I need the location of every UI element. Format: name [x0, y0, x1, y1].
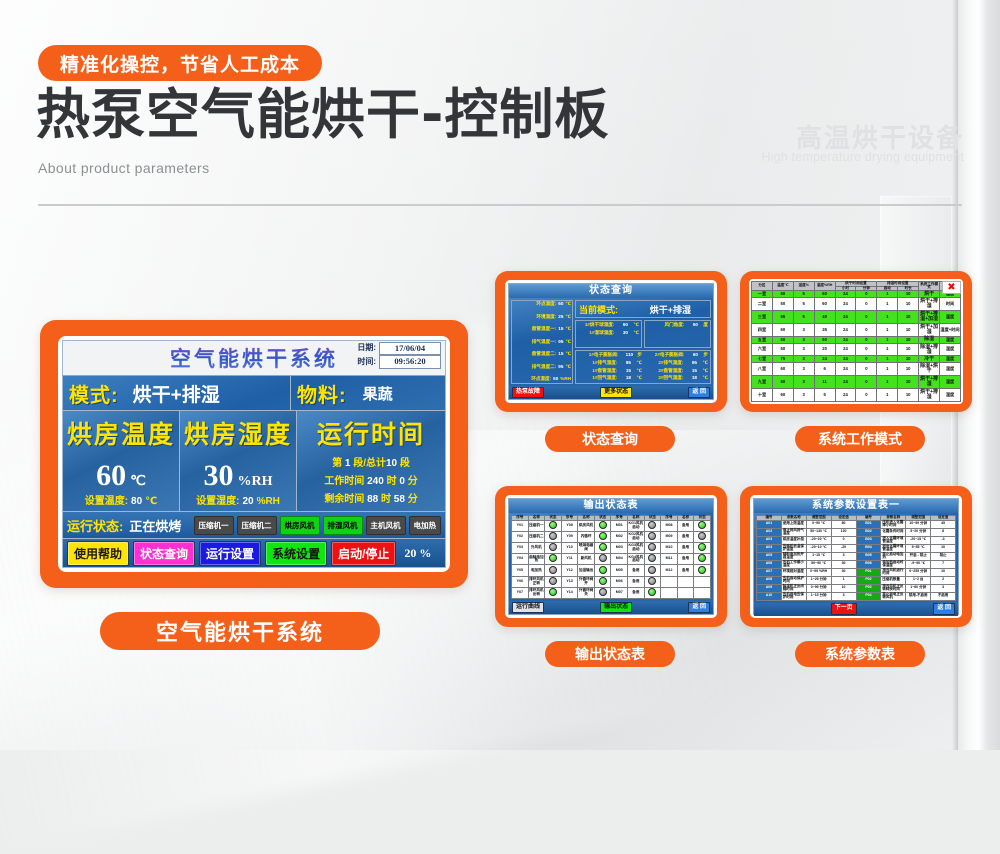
- param-name-right: 压缩机数量: [881, 576, 906, 584]
- output-name: 烘房风机: [578, 520, 595, 531]
- humidity-gauge[interactable]: 烘房湿度 30%RH 设置湿度:20%RH: [180, 411, 297, 511]
- footer-button-1[interactable]: 下一页: [831, 603, 857, 614]
- mode-end-condition: 湿度: [940, 389, 961, 402]
- mode-cell-6: 0: [856, 376, 877, 389]
- output-state: [545, 520, 562, 531]
- param-name-left: 压机启电压保护时间: [781, 592, 806, 600]
- mode-name: 烘干+加湿: [919, 323, 940, 336]
- table-row: A08压机启动保护时间1~25 分钟1P02压缩机数量1~2 台2: [757, 576, 956, 584]
- output-code: Y05: [512, 565, 529, 576]
- mode-cell-1: 九室: [752, 376, 773, 389]
- footer-button-2[interactable]: 更多状态: [600, 387, 632, 398]
- mode-cell-8: 10: [898, 389, 919, 402]
- humidity-setpoint[interactable]: 设置湿度:20%RH: [180, 492, 296, 507]
- indicator-chip-3: 烘房风机: [280, 516, 320, 535]
- output-code: M05: [611, 565, 628, 576]
- param-name-left: 压机工作最小温度: [781, 560, 806, 568]
- readout-value: 60: [687, 323, 703, 328]
- output-code: Y09: [561, 531, 578, 542]
- mode-end-condition: 湿度: [940, 336, 961, 343]
- readout-value: 110: [621, 353, 637, 358]
- param-range-left: 50~130 ℃: [806, 528, 831, 536]
- segment-mid: 段/总计: [353, 458, 386, 469]
- param-name-left: 除湿机正反间隔时间: [781, 584, 806, 592]
- footer-button-1[interactable]: 热泵故障: [512, 387, 544, 398]
- output-state: [644, 542, 661, 553]
- sensor-row-3: 盘管温度一:15℃: [513, 327, 571, 332]
- readout-unit: ℃: [702, 361, 708, 366]
- mode-cell-4: 24: [814, 356, 835, 363]
- output-state: [594, 576, 611, 587]
- header-divider: [38, 204, 962, 206]
- output-name: [677, 576, 694, 587]
- mode-cell-8: 10: [898, 311, 919, 324]
- temperature-setpoint[interactable]: 设置温度:80℃: [63, 492, 179, 507]
- mode-cell-7: 1: [877, 298, 898, 311]
- mode-cell-7: 1: [877, 363, 898, 376]
- readout-label: 2#回气温度:: [644, 376, 686, 381]
- temperature-unit: ℃: [130, 474, 146, 489]
- param-value-left: 1: [831, 576, 856, 584]
- readout-label: 1#回气温度:: [578, 376, 620, 381]
- param-name-left: 停止排风排气温度: [781, 528, 806, 536]
- work-minutes: 0: [399, 476, 405, 487]
- param-value-left: 3: [831, 592, 856, 600]
- readout-unit: %RH: [560, 377, 571, 382]
- output-name: 排环风机正转: [528, 576, 545, 587]
- status-dot-off: [549, 566, 557, 574]
- close-icon[interactable]: ✖: [942, 281, 961, 294]
- readout-label: 环境温度:: [536, 315, 556, 320]
- mode-cell-8: 10: [898, 336, 919, 343]
- table-row: 五室60360240110除湿湿度: [752, 336, 961, 343]
- system-param-table: 编号参数名称调整范围设定值编号参数名称调整范围设定值 A01使用上限温度0~90…: [756, 515, 956, 601]
- mode-cell-3: 5: [793, 291, 814, 298]
- param-range-left: 1~15 分钟: [806, 592, 831, 600]
- output-state: [644, 587, 661, 598]
- mode-cell-4: 60: [814, 291, 835, 298]
- mode-cell-7: 1: [877, 376, 898, 389]
- output-name: 压缩机二: [528, 531, 545, 542]
- status-dot-on: [599, 532, 607, 540]
- output-name: 备用: [677, 520, 694, 531]
- output-name: 压缩机一: [528, 520, 545, 531]
- output-status-footer: 运行曲线输出状态返 回: [509, 601, 713, 614]
- left-minutes: 58: [394, 494, 405, 505]
- output-name: 备用: [628, 576, 645, 587]
- hmi-datetime: 日期: 17/06/04 时间: 09:56:20: [357, 342, 441, 369]
- param-name-left: 烘房温度补偿: [781, 536, 806, 544]
- system-param-screen: 系统参数设置表一 编号参数名称调整范围设定值编号参数名称调整范围设定值 A01使…: [753, 498, 959, 615]
- mode-cell-5: 24: [835, 389, 856, 402]
- table-row: Y04曲轴电加热Y11新风机M04KG4风机启动M11备用: [512, 554, 711, 565]
- hmi-button-bar: 使用帮助状态查询运行设置系统设置启动/停止 20 %: [63, 539, 445, 567]
- output-code: Y13: [561, 576, 578, 587]
- param-value-left: 80: [831, 520, 856, 528]
- circuit1-row-1: 1#电子膨胀阀:110步: [578, 353, 642, 358]
- status-dot-on: [698, 521, 706, 529]
- param-range-left: -20~10 ℃: [806, 544, 831, 552]
- status-dot-on: [648, 588, 656, 596]
- mode-cell-2: 50: [772, 298, 793, 311]
- table-row: Y06排环风机正转Y13外循环阀开M06备用: [512, 576, 711, 587]
- mode-cell-1: 一室: [752, 291, 773, 298]
- table-row: 十室6035240110烘干+排湿湿度: [752, 389, 961, 402]
- readout-value: 15: [620, 369, 636, 374]
- status-query-bezel: 状态查询 环点温度:60℃环境温度:25℃盘管温度一:15℃排气温度一:95℃盘…: [505, 280, 717, 403]
- param-code-left: A06: [757, 560, 782, 568]
- readout-label: 排气温度二:: [532, 365, 557, 370]
- circuit2-row-1: 2#电子膨胀阀:60步: [644, 353, 708, 358]
- output-code: Y02: [512, 531, 529, 542]
- table-row: A03烘房温度补偿-20~20 ℃0B03进入化霜环境管温度-20~15 ℃-3: [757, 536, 956, 544]
- status-dot-off: [698, 532, 706, 540]
- hmi-gauges-row: 烘房温度 60℃ 设置温度:80℃ 烘房湿度 30%RH 设置湿度:20%RH: [63, 411, 445, 512]
- readout-label: 2#盘管温度:: [644, 369, 686, 374]
- mode-header-1: 分区: [752, 282, 773, 291]
- temperature-heading: 烘房温度: [67, 415, 175, 451]
- output-code: Y08: [561, 520, 578, 531]
- status-dot-off: [648, 554, 656, 562]
- output-state: [545, 554, 562, 565]
- output-code: Y14: [561, 587, 578, 598]
- param-value-left: 30: [831, 568, 856, 576]
- hmi-button-4[interactable]: 系统设置: [265, 541, 327, 566]
- work-hours: 240: [367, 476, 384, 487]
- readout-label: 风门角度:: [647, 323, 687, 328]
- param-code-left: A02: [757, 528, 782, 536]
- temperature-set-unit: ℃: [145, 496, 157, 507]
- readout-label: 环点湿度:: [531, 377, 551, 382]
- current-mode-field: 当前模式: 烘干+排湿: [575, 300, 711, 318]
- status-dot-on: [549, 521, 557, 529]
- readout-unit: ℃: [633, 331, 639, 336]
- param-range-right: 开启 - 禁止: [906, 552, 931, 560]
- footer-button-3[interactable]: 返 回: [688, 387, 710, 398]
- system-param-table-wrap: 编号参数名称调整范围设定值编号参数名称调整范围设定值 A01使用上限温度0~90…: [754, 513, 958, 603]
- output-state: [545, 576, 562, 587]
- param-value-right: 2: [931, 576, 956, 584]
- readout-value: 30: [617, 331, 633, 336]
- output-state: [694, 587, 711, 598]
- readout-label: 环点温度:: [536, 302, 556, 307]
- mode-cell-5: 24: [835, 291, 856, 298]
- hmi-button-2[interactable]: 状态查询: [133, 541, 195, 566]
- sensor-row-5: 盘管温度二:15℃: [513, 352, 571, 357]
- material-field[interactable]: 物料: 果蔬: [291, 376, 445, 410]
- segment-suffix: 段: [400, 458, 410, 469]
- output-status-tbody: Y01压缩机一Y08烘房风机M01KG1风机启动M08备用Y02压缩机二Y09内…: [512, 520, 711, 598]
- segment-current: 1: [345, 458, 351, 469]
- mode-cell-7: 1: [877, 323, 898, 336]
- readout-unit: ℃: [636, 361, 642, 366]
- sensor-readouts-left: 环点温度:60℃环境温度:25℃盘管温度一:15℃排气温度一:95℃盘管温度二:…: [511, 300, 573, 384]
- mode-cell-2: 55: [772, 311, 793, 324]
- readout-label: 1#湿球温度:: [578, 331, 617, 336]
- output-name: 备用: [677, 542, 694, 553]
- table-row: A04压缩机低温保护温度-20~10 ℃-20B04退出化霜环境管温度5~55 …: [757, 544, 956, 552]
- mode-cell-6: 0: [856, 363, 877, 376]
- table-row: 九室60311240110烘干+排湿湿度: [752, 376, 961, 389]
- mode-cell-2: 60: [772, 291, 793, 298]
- param-range-left: 0~90 ℃: [806, 520, 831, 528]
- status-dot-on: [698, 543, 706, 551]
- output-name: KG2风机启动: [628, 531, 645, 542]
- output-status-screen: 输出状态表 序号名称状态序号名称状态序号名称状态序号名称状态 Y01压缩机一Y0…: [508, 498, 714, 615]
- mode-cell-8: 10: [898, 363, 919, 376]
- status-dot-on: [599, 566, 607, 574]
- output-code: M11: [661, 554, 678, 565]
- mode-cell-7: 1: [877, 343, 898, 356]
- output-status-title: 输出状态表: [509, 499, 713, 513]
- readout-label: 1#排气温度:: [578, 361, 620, 366]
- date-value[interactable]: 17/06/04: [379, 342, 441, 355]
- param-range-left: 0~99 分钟: [806, 584, 831, 592]
- left-min-unit: 分: [408, 494, 418, 505]
- sensor-row-4: 排气温度一:95℃: [513, 340, 571, 345]
- damper-readouts: 风门角度:60度: [644, 320, 711, 348]
- readout-unit: ℃: [565, 302, 571, 307]
- param-range-right: 0~255 分钟: [906, 568, 931, 576]
- output-name: 排环风机反转: [528, 587, 545, 598]
- output-code: Y03: [512, 542, 529, 553]
- hmi-button-1[interactable]: 使用帮助: [67, 541, 129, 566]
- mode-name: 除湿+排湿: [919, 343, 940, 356]
- output-state: [594, 542, 611, 553]
- sensor-row-6: 排气温度二:95℃: [513, 365, 571, 370]
- runtime-panel[interactable]: 运行时间 第 1 段/总计10 段 工作时间 240 时 0 分: [297, 411, 445, 511]
- status-query-screen: 状态查询 环点温度:60℃环境温度:25℃盘管温度一:15℃排气温度一:95℃盘…: [508, 283, 714, 400]
- mode-cell-4: 60: [814, 336, 835, 343]
- mode-cell-6: 0: [856, 298, 877, 311]
- footer-button-2[interactable]: 输出状态: [600, 602, 632, 613]
- output-code: Y06: [512, 576, 529, 587]
- output-state: [545, 531, 562, 542]
- status-dot-on: [599, 577, 607, 585]
- output-name: 备用: [677, 554, 694, 565]
- output-code: M04: [611, 554, 628, 565]
- param-name-right: 进入化霜环境管温度: [881, 536, 906, 544]
- wetbulb-row-2: 1#湿球温度:30℃: [578, 331, 639, 336]
- param-name-right: 排污风机正反转转换时间: [881, 584, 906, 592]
- readout-label: 排气温度一:: [532, 340, 557, 345]
- param-range-right: 5~20 分钟: [906, 528, 931, 536]
- readout-value: 15: [558, 327, 563, 332]
- output-name: KG3风机启动: [628, 542, 645, 553]
- mode-cell-6: 0: [856, 389, 877, 402]
- output-name: 电加热: [528, 565, 545, 576]
- temperature-value: 60: [96, 459, 126, 492]
- mode-cell-1: 二室: [752, 298, 773, 311]
- output-state: [644, 565, 661, 576]
- output-code: M10: [661, 542, 678, 553]
- mode-cell-6: 0: [856, 291, 877, 298]
- circuit2-row-2: 2#排气温度:95℃: [644, 361, 708, 366]
- system-mode-table: 分区温度℃湿度%湿度%RH烘干时间设置排湿时间设置系统工作模式结束模式小时分钟启…: [751, 281, 961, 402]
- mode-cell-1: 八室: [752, 363, 773, 376]
- output-name: 新风机: [578, 554, 595, 565]
- system-mode-device: 分区温度℃湿度%湿度%RH烘干时间设置排湿时间设置系统工作模式结束模式小时分钟启…: [740, 271, 972, 412]
- mode-field[interactable]: 模式: 烘干+排湿: [63, 376, 291, 410]
- output-state: [594, 587, 611, 598]
- readout-unit: ℃: [565, 352, 571, 357]
- circuit1-row-3: 1#盘管温度:15℃: [578, 369, 642, 374]
- mode-cell-3: 3: [793, 389, 814, 402]
- hmi-button-3[interactable]: 运行设置: [199, 541, 261, 566]
- table-row: 二室50560240110烘干+排湿时间: [752, 298, 961, 311]
- param-value-left: 120: [831, 528, 856, 536]
- table-row: 七室75324240110冷干湿度: [752, 356, 961, 363]
- table-row: Y07排环风机反转Y14外循环阀关M07备用: [512, 587, 711, 598]
- mode-cell-3: 5: [793, 298, 814, 311]
- param-value-right: 禁止: [931, 552, 956, 560]
- material-value: 果蔬: [363, 383, 393, 404]
- param-value-left: -20: [831, 544, 856, 552]
- output-code: Y07: [512, 587, 529, 598]
- main-hmi-device: 空气能烘干系统 日期: 17/06/04 时间: 09:56:20 模式: 烘干…: [40, 320, 468, 588]
- device-indicator-chips: 压缩机一压缩机二烘房风机排湿风机主机风机电加热: [194, 516, 442, 535]
- table-row: A01使用上限温度0~90 ℃80B01压机进入化霜厚小时间10~99 分钟45: [757, 520, 956, 528]
- mode-name: 烘干+排湿: [919, 389, 940, 402]
- readout-value: 15: [686, 369, 702, 374]
- mode-cell-5: 24: [835, 311, 856, 324]
- param-code-right: P04: [856, 592, 881, 600]
- status-query-body: 环点温度:60℃环境温度:25℃盘管温度一:15℃排气温度一:95℃盘管温度二:…: [509, 298, 713, 386]
- mode-cell-2: 50: [772, 343, 793, 356]
- status-dot-on: [599, 543, 607, 551]
- mode-cell-1: 四室: [752, 323, 773, 336]
- output-name: KG1风机启动: [628, 520, 645, 531]
- mode-cell-6: 0: [856, 336, 877, 343]
- mode-name: 烘干: [919, 291, 940, 298]
- mode-cell-7: 1: [877, 336, 898, 343]
- table-row: A07环境相对湿度0~99 %RH30P01排污风机运行时间0~255 分钟10: [757, 568, 956, 576]
- param-value-right: 10: [931, 544, 956, 552]
- param-code-left: A05: [757, 552, 782, 560]
- segment-prefix: 第: [332, 458, 342, 469]
- footer-button-1[interactable]: 运行曲线: [512, 602, 544, 613]
- table-row: Y05电加热Y12加湿输出M05备用M12备用: [512, 565, 711, 576]
- caption-system-param: 系统参数表: [795, 641, 925, 667]
- status-query-bottom: 1#电子膨胀阀:110步1#排气温度:95℃1#盘管温度:15℃1#回气温度:1…: [575, 350, 711, 384]
- mode-name: 烘干+排湿: [919, 376, 940, 389]
- sensor-row-7: 环点湿度:50%RH: [513, 377, 571, 382]
- readout-unit: ℃: [702, 376, 708, 381]
- status-query-mid: 1#烘干球温度:60℃1#湿球温度:30℃ 风门角度:60度: [575, 320, 711, 348]
- indicator-chip-6: 电加热: [409, 516, 442, 535]
- output-name: 外风机: [528, 542, 545, 553]
- param-code-right: B04: [856, 544, 881, 552]
- param-code-right: B06: [856, 560, 881, 568]
- caption-main-system: 空气能烘干系统: [100, 612, 380, 650]
- status-dot-off: [599, 588, 607, 596]
- mode-name: 烘干+排湿+加湿: [919, 311, 940, 324]
- param-value-left: 10: [831, 584, 856, 592]
- circuit1-row-2: 1#排气温度:95℃: [578, 361, 642, 366]
- output-status-table: 序号名称状态序号名称状态序号名称状态序号名称状态 Y01压缩机一Y08烘房风机M…: [511, 515, 711, 599]
- status-dot-off: [549, 532, 557, 540]
- temperature-gauge[interactable]: 烘房温度 60℃ 设置温度:80℃: [63, 411, 180, 511]
- readout-label: 1#烘干球温度:: [578, 323, 617, 328]
- table-row: A05辅助电加热开启温度1~15 ℃3B05禁止启动电加热开启 - 禁止禁止: [757, 552, 956, 560]
- param-code-right: B05: [856, 552, 881, 560]
- param-code-right: B02: [856, 528, 881, 536]
- table-row: A06压机工作最小温度50~90 ℃30B06电加热启动时保温度-9~90 ℃7: [757, 560, 956, 568]
- mode-cell-5: 24: [835, 336, 856, 343]
- mode-cell-4: 6: [814, 363, 835, 376]
- output-name: 外循环阀开: [578, 576, 595, 587]
- param-value-right: 不启用: [931, 592, 956, 600]
- mode-name: 除湿: [919, 336, 940, 343]
- work-hour-unit: 时: [387, 476, 397, 487]
- output-code: M09: [661, 531, 678, 542]
- mode-cell-3: 3: [793, 376, 814, 389]
- caption-system-mode: 系统工作模式: [795, 426, 925, 452]
- hmi-button-5[interactable]: 启动/停止: [331, 541, 396, 566]
- readout-unit: ℃: [565, 315, 571, 320]
- readout-value: 95: [558, 365, 563, 370]
- mode-cell-4: 60: [814, 298, 835, 311]
- system-param-bezel: 系统参数设置表一 编号参数名称调整范围设定值编号参数名称调整范围设定值 A01使…: [750, 495, 962, 618]
- mode-cell-2: 60: [772, 363, 793, 376]
- readout-value: 60: [558, 302, 563, 307]
- runtime-work: 工作时间 240 时 0 分: [324, 476, 417, 487]
- param-range-right: 5~55 ℃: [906, 544, 931, 552]
- watermark-english: High temperature drying equipment: [761, 150, 964, 164]
- material-label: 物料:: [297, 379, 347, 408]
- table-row: 一室60560240110烘干湿度: [752, 291, 961, 298]
- system-mode-screen: 分区温度℃湿度%湿度%RH烘干时间设置排湿时间设置系统工作模式结束模式小时分钟启…: [751, 281, 961, 402]
- status-dot-on: [698, 554, 706, 562]
- param-name-left: 环境相对湿度: [781, 568, 806, 576]
- param-name-left: 压缩机低温保护温度: [781, 544, 806, 552]
- table-row: A09除湿机正反间隔时间0~99 分钟10P03排污风机正反转转换时间1~60 …: [757, 584, 956, 592]
- run-state-label: 运行状态:: [67, 519, 123, 534]
- status-dot-off: [648, 543, 656, 551]
- param-name-left: 使用上限温度: [781, 520, 806, 528]
- output-name: [677, 587, 694, 598]
- footer-button-2[interactable]: 返 回: [933, 603, 955, 614]
- humidity-set-unit: %RH: [257, 496, 280, 507]
- humidity-set-value: 20: [242, 496, 253, 507]
- status-query-title: 状态查询: [509, 284, 713, 298]
- footer-button-3[interactable]: 返 回: [688, 602, 710, 613]
- readout-unit: ℃: [565, 340, 571, 345]
- param-value-right: -3: [931, 536, 956, 544]
- param-code-left: A09: [757, 584, 782, 592]
- mode-name: 除湿+烘干: [919, 363, 940, 376]
- output-state: [644, 520, 661, 531]
- output-state: [694, 565, 711, 576]
- sensor-row-1: 环点温度:60℃: [513, 302, 571, 307]
- hmi-screen: 空气能烘干系统 日期: 17/06/04 时间: 09:56:20 模式: 烘干…: [62, 340, 446, 568]
- run-state: 运行状态:正在烘烤: [67, 516, 181, 535]
- wetbulb-row-1: 1#烘干球温度:60℃: [578, 323, 639, 328]
- param-value-left: 3: [831, 552, 856, 560]
- table-row: 四室60335240110烘干+加湿湿度+时间: [752, 323, 961, 336]
- output-code: M12: [661, 565, 678, 576]
- mode-cell-5: 24: [835, 343, 856, 356]
- readout-value: 50: [553, 377, 558, 382]
- mode-cell-1: 五室: [752, 336, 773, 343]
- output-code: Y11: [561, 554, 578, 565]
- param-range-right: -9~90 ℃: [906, 560, 931, 568]
- param-name-left: 压机启动保护时间: [781, 576, 806, 584]
- system-mode-tbody: 一室60560240110烘干湿度二室50560240110烘干+排湿时间三室5…: [752, 291, 961, 402]
- wetbulb-readouts: 1#烘干球温度:60℃1#湿球温度:30℃: [575, 320, 642, 348]
- time-value[interactable]: 09:56:20: [379, 355, 441, 368]
- param-code-right: P02: [856, 576, 881, 584]
